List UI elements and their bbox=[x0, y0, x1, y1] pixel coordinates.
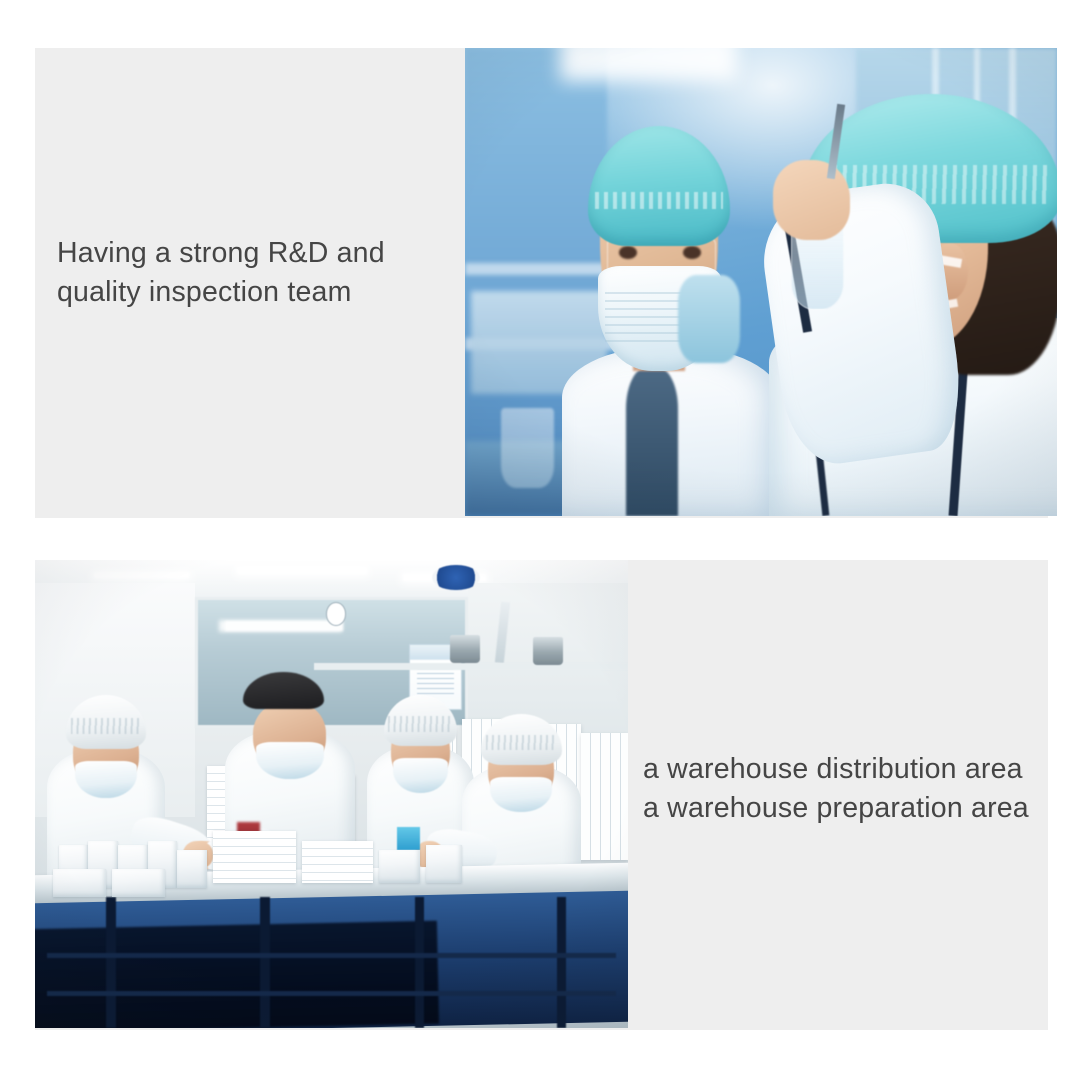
section-warehouse: a warehouse distribution area a warehous… bbox=[35, 560, 1048, 1030]
section-rnd-quality: Having a strong R&D and quality inspecti… bbox=[35, 48, 1057, 518]
caption-line-1: Having a strong R&D and bbox=[57, 234, 457, 273]
warehouse-packing-photo bbox=[35, 560, 628, 1028]
lab-quality-inspection-photo bbox=[465, 48, 1057, 516]
caption-line-1: a warehouse distribution area bbox=[643, 750, 1043, 789]
caption-line-2: quality inspection team bbox=[57, 273, 457, 312]
caption-line-2: a warehouse preparation area bbox=[643, 789, 1043, 828]
page-root: Having a strong R&D and quality inspecti… bbox=[0, 0, 1080, 1080]
caption-warehouse: a warehouse distribution area a warehous… bbox=[643, 750, 1043, 828]
caption-rnd-quality: Having a strong R&D and quality inspecti… bbox=[57, 234, 457, 312]
